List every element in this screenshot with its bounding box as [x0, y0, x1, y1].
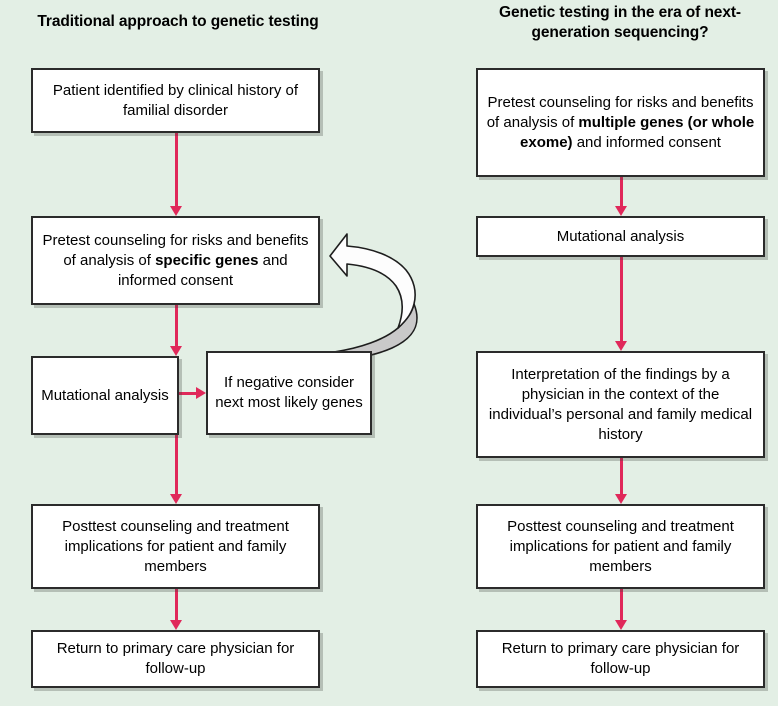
loop-arrow-topface — [330, 234, 415, 328]
arrow-mutational-to-if-negative — [179, 386, 206, 400]
node-posttest-counseling-label: Posttest counseling and treatment implic… — [40, 517, 311, 577]
arrow-shaft — [620, 589, 623, 620]
left-column-title: Traditional approach to genetic testing — [8, 12, 348, 32]
arrow-shaft — [620, 177, 623, 206]
node-mutational-analysis-ngs-label: Mutational analysis — [485, 227, 756, 247]
node-mutational-analysis: Mutational analysis — [31, 356, 179, 435]
arrow-head — [170, 206, 182, 216]
arrow-head — [615, 620, 627, 630]
node-pretest-counseling-label: Pretest counseling for risks and benefit… — [40, 231, 311, 291]
arrow-posttest-ngs-to-return-ngs — [614, 589, 628, 630]
arrow-interpretation-to-posttest-ngs — [614, 458, 628, 504]
arrow-pretest-ngs-to-mutational-ngs — [614, 177, 628, 216]
node-mutational-analysis-ngs: Mutational analysis — [476, 216, 765, 257]
loop-back-curved-arrow — [318, 212, 470, 372]
node-posttest-counseling: Posttest counseling and treatment implic… — [31, 504, 320, 589]
node-interpretation-label: Interpretation of the findings by a phys… — [485, 365, 756, 445]
arrow-posttest-to-return — [169, 589, 183, 630]
arrow-shaft — [175, 435, 178, 494]
node-interpretation: Interpretation of the findings by a phys… — [476, 351, 765, 458]
node-patient-identified-label: Patient identified by clinical history o… — [40, 81, 311, 121]
arrow-shaft — [175, 133, 178, 206]
arrow-head — [615, 206, 627, 216]
arrow-mutational-to-posttest — [169, 435, 183, 504]
arrow-head — [170, 494, 182, 504]
node-pretest-counseling-ngs: Pretest counseling for risks and benefit… — [476, 68, 765, 177]
node-pretest-counseling: Pretest counseling for risks and benefit… — [31, 216, 320, 305]
right-column-title: Genetic testing in the era of next-gener… — [470, 3, 770, 43]
arrow-pretest-to-mutational — [169, 305, 183, 356]
node-return-primary-care: Return to primary care physician for fol… — [31, 630, 320, 688]
node-pretest-counseling-ngs-label: Pretest counseling for risks and benefit… — [485, 93, 756, 153]
arrow-head — [170, 620, 182, 630]
node-return-primary-care-ngs-label: Return to primary care physician for fol… — [485, 639, 756, 679]
arrow-head — [615, 341, 627, 351]
node-posttest-counseling-ngs-label: Posttest counseling and treatment implic… — [485, 517, 756, 577]
node-mutational-analysis-label: Mutational analysis — [40, 386, 170, 406]
node-return-primary-care-ngs: Return to primary care physician for fol… — [476, 630, 765, 688]
arrow-mutational-ngs-to-interpretation — [614, 257, 628, 351]
node-if-negative-label: If negative consider next most likely ge… — [215, 373, 363, 413]
arrow-patient-to-pretest — [169, 133, 183, 216]
node-posttest-counseling-ngs: Posttest counseling and treatment implic… — [476, 504, 765, 589]
arrow-shaft — [620, 458, 623, 494]
arrow-shaft — [620, 257, 623, 341]
figure-canvas: Traditional approach to genetic testing … — [0, 0, 778, 706]
node-return-primary-care-label: Return to primary care physician for fol… — [40, 639, 311, 679]
arrow-head — [615, 494, 627, 504]
arrow-shaft — [175, 305, 178, 346]
node-patient-identified: Patient identified by clinical history o… — [31, 68, 320, 133]
arrow-shaft — [179, 392, 197, 395]
node-if-negative: If negative consider next most likely ge… — [206, 351, 372, 435]
arrow-shaft — [175, 589, 178, 620]
arrow-head — [170, 346, 182, 356]
arrow-head — [196, 387, 206, 399]
